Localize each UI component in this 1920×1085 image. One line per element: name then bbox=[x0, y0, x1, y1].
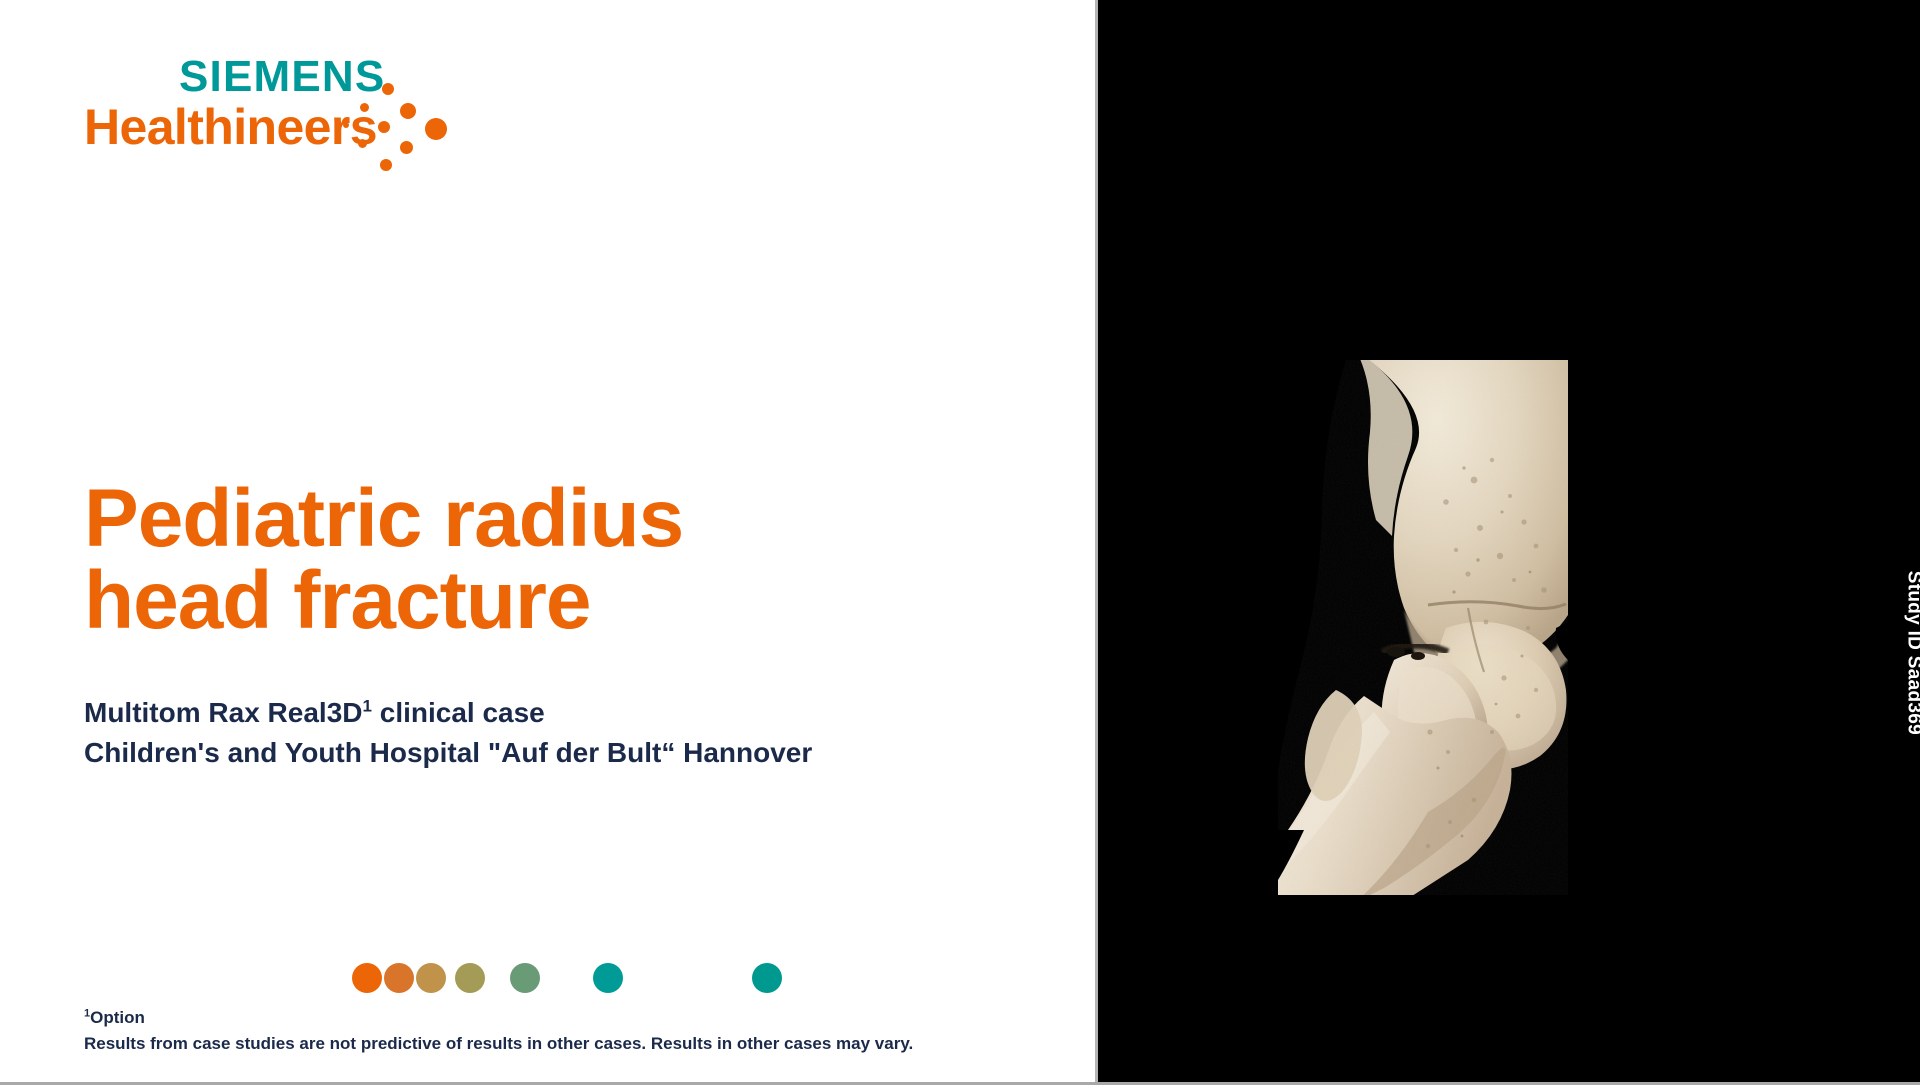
decorative-dot-5 bbox=[510, 963, 540, 993]
subtitle-footnote-marker: 1 bbox=[363, 697, 372, 716]
subtitle-line-2: Children's and Youth Hospital "Auf der B… bbox=[84, 733, 1034, 773]
decorative-dot-4 bbox=[455, 963, 485, 993]
logo-dot-5-icon bbox=[378, 121, 390, 133]
logo-dot-4-icon bbox=[343, 122, 349, 128]
logo-dot-cluster-icon bbox=[344, 67, 474, 177]
footnote-option-line: 1Option bbox=[84, 1005, 1034, 1031]
logo-dot-9-icon bbox=[380, 159, 392, 171]
subtitle-product-name: Multitom Rax Real3D bbox=[84, 697, 363, 728]
siemens-healthineers-logo: SIEMENS Healthineers bbox=[84, 55, 484, 170]
page-title-line-1: Pediatric radius bbox=[84, 478, 984, 560]
decorative-dot-2 bbox=[384, 963, 414, 993]
presentation-slide: SIEMENS Healthineers Pediatric radius he… bbox=[0, 0, 1920, 1085]
page-title: Pediatric radius head fracture bbox=[84, 478, 984, 642]
decorative-dot-row bbox=[352, 963, 832, 995]
study-id-label: Study ID Saad369 bbox=[1902, 571, 1920, 735]
bone-3d-render-image bbox=[1278, 360, 1568, 895]
logo-dot-7-icon bbox=[358, 139, 367, 148]
logo-dot-2-icon bbox=[360, 103, 369, 112]
subtitle-line-1: Multitom Rax Real3D1 clinical case bbox=[84, 693, 1034, 733]
logo-wordmark-healthineers: Healthineers bbox=[84, 102, 377, 152]
decorative-dot-3 bbox=[416, 963, 446, 993]
decorative-dot-6 bbox=[593, 963, 623, 993]
bone-3d-render-frame bbox=[1278, 360, 1568, 895]
page-title-line-2: head fracture bbox=[84, 560, 984, 642]
right-image-panel: Study ID Saad369 bbox=[1098, 0, 1920, 1082]
decorative-dot-1 bbox=[352, 963, 382, 993]
logo-dot-1-icon bbox=[382, 83, 394, 95]
logo-dot-8-icon bbox=[400, 141, 413, 154]
left-content-panel: SIEMENS Healthineers Pediatric radius he… bbox=[0, 0, 1098, 1082]
subtitle-case-text: clinical case bbox=[372, 697, 545, 728]
logo-dot-6-icon bbox=[425, 118, 447, 140]
page-subtitle: Multitom Rax Real3D1 clinical case Child… bbox=[84, 693, 1034, 773]
footnote-option-label: Option bbox=[90, 1008, 145, 1027]
footnote-disclaimer: Results from case studies are not predic… bbox=[84, 1031, 1034, 1057]
footnote-block: 1Option Results from case studies are no… bbox=[84, 1005, 1034, 1058]
decorative-dot-7 bbox=[752, 963, 782, 993]
logo-dot-3-icon bbox=[400, 103, 416, 119]
